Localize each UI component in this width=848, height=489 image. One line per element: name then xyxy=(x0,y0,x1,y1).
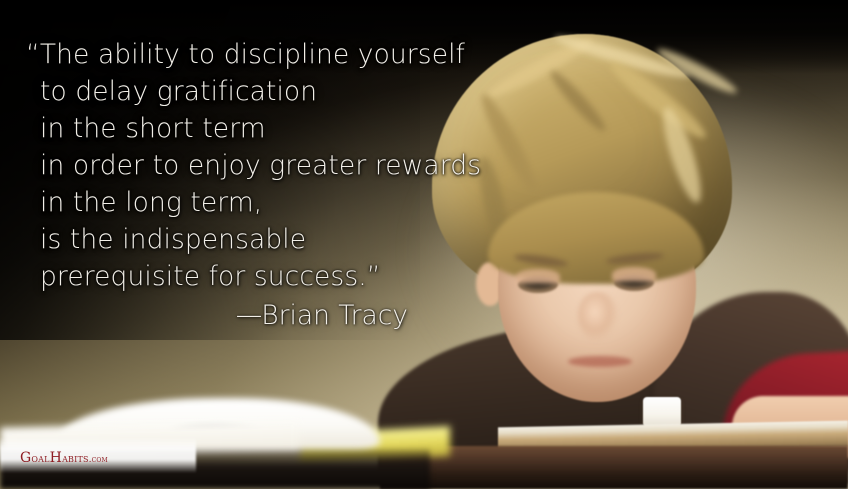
watermark-logo[interactable]: GoalHabits.com xyxy=(20,450,108,466)
quote-line-3: in the short term xyxy=(26,110,496,147)
quote-attribution: —Brian Tracy xyxy=(26,297,496,334)
mouth xyxy=(568,356,632,367)
watermark-h: H xyxy=(50,450,62,466)
eyelid-left xyxy=(516,269,560,283)
quote-image-canvas: “The ability to discipline yourself to d… xyxy=(0,0,848,489)
watermark-abits: abits xyxy=(62,451,89,465)
desk-edge xyxy=(380,446,848,489)
watermark-oal: oal xyxy=(31,451,49,465)
watermark-g: G xyxy=(20,450,31,466)
quote-line-5: in the long term, xyxy=(26,184,496,221)
eyelid-right xyxy=(612,267,656,281)
quote-line-2: to delay gratification xyxy=(26,73,496,110)
watermark-tld: .com xyxy=(89,455,108,465)
nose xyxy=(578,292,618,342)
marshmallow xyxy=(643,397,681,427)
quote-line-6: is the indispensable xyxy=(26,221,496,258)
quote-block: “The ability to discipline yourself to d… xyxy=(26,36,496,334)
quote-line-7: prerequisite for success.” xyxy=(26,258,496,295)
quote-line-4: in order to enjoy greater rewards xyxy=(26,147,496,184)
quote-line-1: “The ability to discipline yourself xyxy=(26,36,496,73)
